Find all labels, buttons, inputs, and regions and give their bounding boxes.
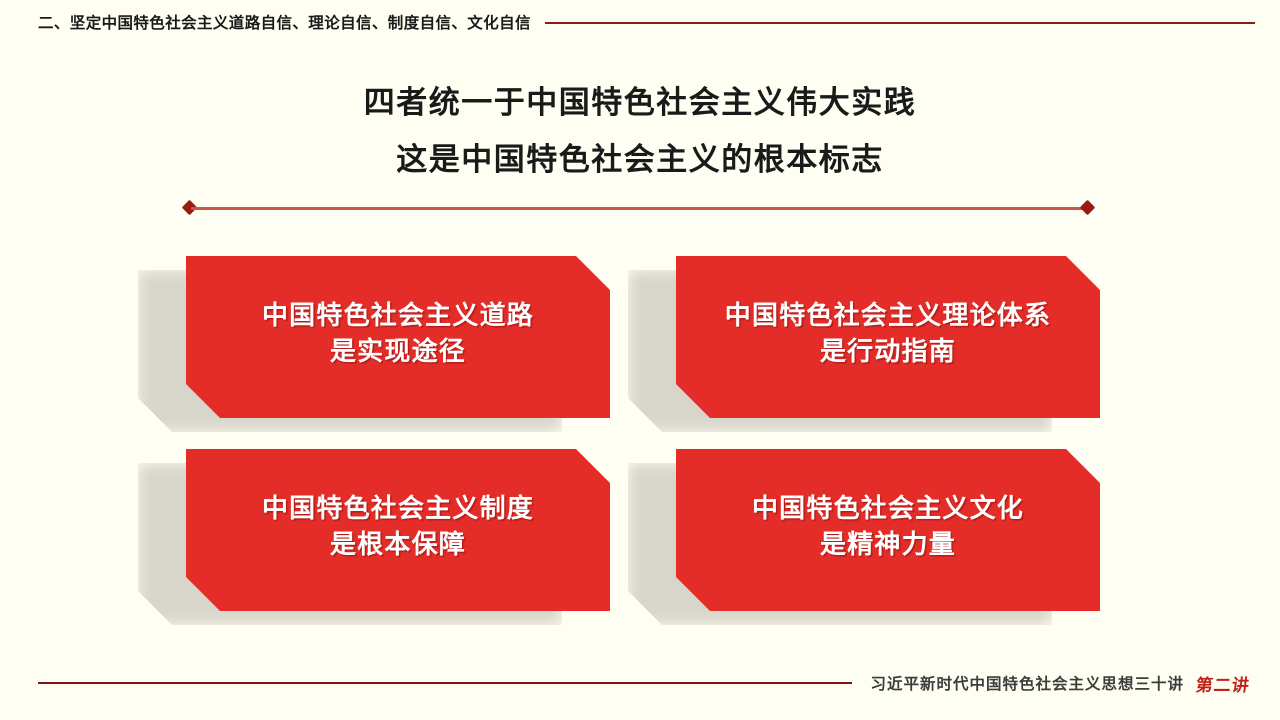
banner-text-line-2: 是根本保障 — [330, 528, 466, 564]
diamond-right-icon — [1080, 200, 1096, 216]
banner-body[interactable]: 中国特色社会主义理论体系 是行动指南 — [676, 256, 1100, 418]
banner-card-path[interactable]: 中国特色社会主义道路 是实现途径 — [186, 256, 610, 418]
banner-text-line-1: 中国特色社会主义理论体系 — [725, 299, 1051, 335]
banner-body[interactable]: 中国特色社会主义制度 是根本保障 — [186, 449, 610, 611]
banner-card-system[interactable]: 中国特色社会主义制度 是根本保障 — [186, 449, 610, 611]
slide-header: 二、坚定中国特色社会主义道路自信、理论自信、制度自信、文化自信 — [0, 0, 1280, 44]
page-title-line-1: 四者统一于中国特色社会主义伟大实践 — [0, 88, 1280, 119]
header-divider-rule — [545, 22, 1255, 24]
page-title-line-2: 这是中国特色社会主义的根本标志 — [0, 145, 1280, 176]
banner-text-line-1: 中国特色社会主义文化 — [752, 492, 1024, 528]
section-title: 二、坚定中国特色社会主义道路自信、理论自信、制度自信、文化自信 — [38, 11, 531, 33]
divider-rule — [191, 207, 1086, 210]
slide-footer: 习近平新时代中国特色社会主义思想三十讲 第二讲 — [0, 668, 1280, 698]
banner-text-line-2: 是实现途径 — [330, 335, 466, 371]
banner-text-line-2: 是精神力量 — [820, 528, 956, 564]
banner-text-line-2: 是行动指南 — [820, 335, 956, 371]
banner-text-line-1: 中国特色社会主义道路 — [262, 299, 534, 335]
footer-lecture-badge: 第二讲 — [1194, 671, 1251, 696]
diamond-divider — [184, 202, 1093, 214]
footer-divider-rule — [38, 682, 852, 684]
banner-card-theory[interactable]: 中国特色社会主义理论体系 是行动指南 — [676, 256, 1100, 418]
banner-grid: 中国特色社会主义道路 是实现途径 中国特色社会主义理论体系 是行动指南 中国特色… — [0, 256, 1280, 611]
banner-body[interactable]: 中国特色社会主义道路 是实现途径 — [186, 256, 610, 418]
footer-book-title: 习近平新时代中国特色社会主义思想三十讲 — [870, 672, 1184, 694]
page-title: 四者统一于中国特色社会主义伟大实践 这是中国特色社会主义的根本标志 — [0, 88, 1280, 176]
banner-text-line-1: 中国特色社会主义制度 — [262, 492, 534, 528]
banner-body[interactable]: 中国特色社会主义文化 是精神力量 — [676, 449, 1100, 611]
banner-card-culture[interactable]: 中国特色社会主义文化 是精神力量 — [676, 449, 1100, 611]
